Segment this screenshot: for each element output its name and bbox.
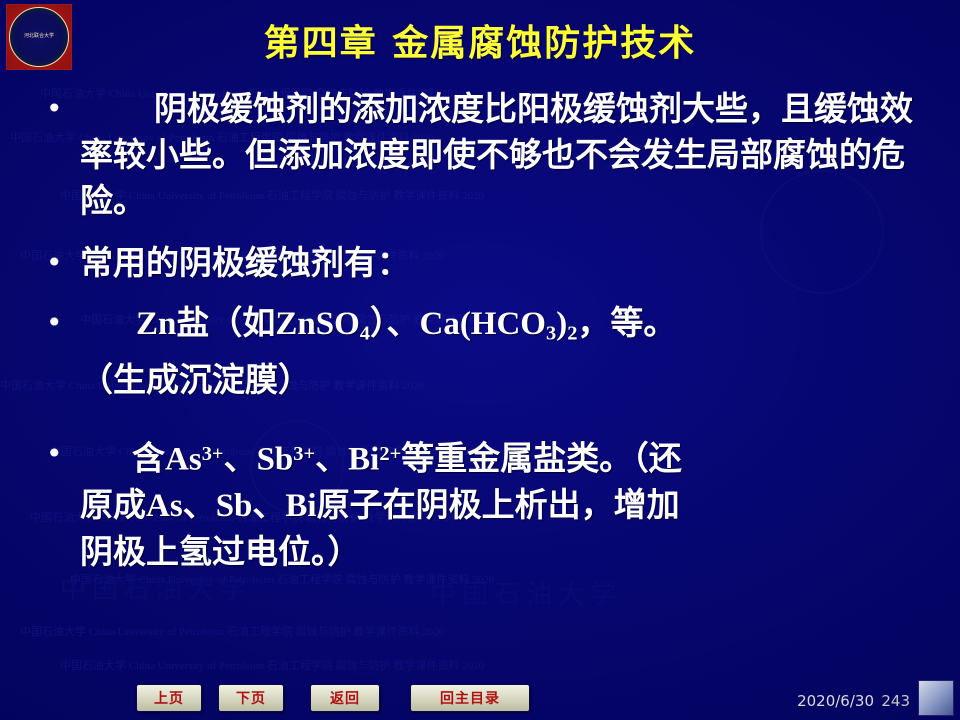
back-button[interactable]: 返回 <box>310 684 380 712</box>
chem-cahco3-paren: ) <box>556 306 567 342</box>
bullet-marker-icon: • <box>46 86 80 132</box>
paragraph-text-1: 阴极缓蚀剂的添加浓度比阳极缓蚀剂大些，且缓蚀效率较小些。但添加浓度即使不够也不会… <box>80 86 916 224</box>
text-sep-2: 、 <box>224 438 257 477</box>
paragraph-text-2: 常用的阴极缓蚀剂有： <box>80 240 916 286</box>
next-page-button[interactable]: 下页 <box>218 684 284 712</box>
watermark-line: 中国石油大学 China University of Petroleum 石油工… <box>20 612 444 652</box>
text-contains: 含 <box>132 438 165 477</box>
bullet-paragraph-1: • 阴极缓蚀剂的添加浓度比阳极缓蚀剂大些，且缓蚀效率较小些。但添加浓度即使不够也… <box>0 86 960 224</box>
chem-as-charge: 3+ <box>202 443 224 465</box>
chem-cahco3-sub1: 3 <box>546 323 556 345</box>
paragraph-text-4: 含As3+、Sb3+、Bi2+等重金属盐类。（还原成As、Sb、Bi原子在阴极上… <box>80 431 916 575</box>
chem-znso4: ZnSO <box>275 306 359 342</box>
chem-as: As <box>165 441 202 477</box>
chem-sb-charge: 3+ <box>293 443 315 465</box>
main-menu-button[interactable]: 回主目录 <box>410 684 530 712</box>
slide: 中国石油大学 China University of Petroleum 石油工… <box>0 0 960 720</box>
watermark-title: 中国石油大学 <box>60 570 252 610</box>
text-sep-3: 、 <box>315 438 348 477</box>
page-title: 第四章 金属腐蚀防护技术 <box>0 14 960 66</box>
corner-logo-icon <box>918 680 954 716</box>
chem-bi-2: Bi <box>285 488 316 524</box>
prev-page-button[interactable]: 上页 <box>136 684 202 712</box>
chem-sb: Sb <box>257 441 294 477</box>
bullet-marker-icon: • <box>46 431 80 477</box>
bullet-paragraph-2: • 常用的阴极缓蚀剂有： <box>0 240 960 286</box>
slide-footer: 上页 下页 返回 回主目录 2020/6/30 243 <box>0 672 960 720</box>
text-heavy-metal-salts: 等重金属盐类。（还 <box>401 438 682 477</box>
bullet-paragraph-4: • 含As3+、Sb3+、Bi2+等重金属盐类。（还原成As、Sb、Bi原子在阴… <box>0 431 960 575</box>
bullet-paragraph-3: • Zn盐（如ZnSO4）、Ca(HCO3)2，等。（生成沉淀膜） <box>0 300 960 403</box>
chem-bi-charge: 2+ <box>379 443 401 465</box>
chem-as-2: As、 <box>146 488 216 524</box>
chem-znso4-sub: 4 <box>360 323 370 345</box>
paragraph-3-line2: （生成沉淀膜） <box>80 360 311 399</box>
slide-body: • 阴极缓蚀剂的添加浓度比阳极缓蚀剂大些，且缓蚀效率较小些。但添加浓度即使不够也… <box>0 84 960 575</box>
chem-cahco3: Ca(HCO <box>419 306 546 342</box>
text-salt: 盐（如 <box>176 303 275 342</box>
chem-cahco3-sub2: 2 <box>567 323 577 345</box>
paragraph-text-3: Zn盐（如ZnSO4）、Ca(HCO3)2，等。（生成沉淀膜） <box>80 300 916 403</box>
text-deposit: 原子在阴极上析出，增加 <box>317 485 680 524</box>
date-label: 2020/6/30 <box>797 692 874 710</box>
chem-sb-2: Sb、 <box>216 488 286 524</box>
paragraph-1-content: 阴极缓蚀剂的添加浓度比阳极缓蚀剂大些，且缓蚀效率较小些。但添加浓度即使不够也不会… <box>80 89 913 220</box>
chem-zn: Zn <box>136 306 176 342</box>
watermark-title: 中国石油大学 <box>430 575 622 615</box>
paragraph-4-line3: 阴极上氢过电位。） <box>80 532 361 571</box>
chem-bi: Bi <box>348 441 379 477</box>
bullet-marker-icon: • <box>46 300 80 346</box>
text-etc: ，等。 <box>577 303 676 342</box>
page-number: 243 <box>881 692 910 710</box>
bullet-marker-icon: • <box>46 240 80 286</box>
text-reduced-to: 原成 <box>80 485 146 524</box>
text-sep-1: ）、 <box>370 303 420 342</box>
